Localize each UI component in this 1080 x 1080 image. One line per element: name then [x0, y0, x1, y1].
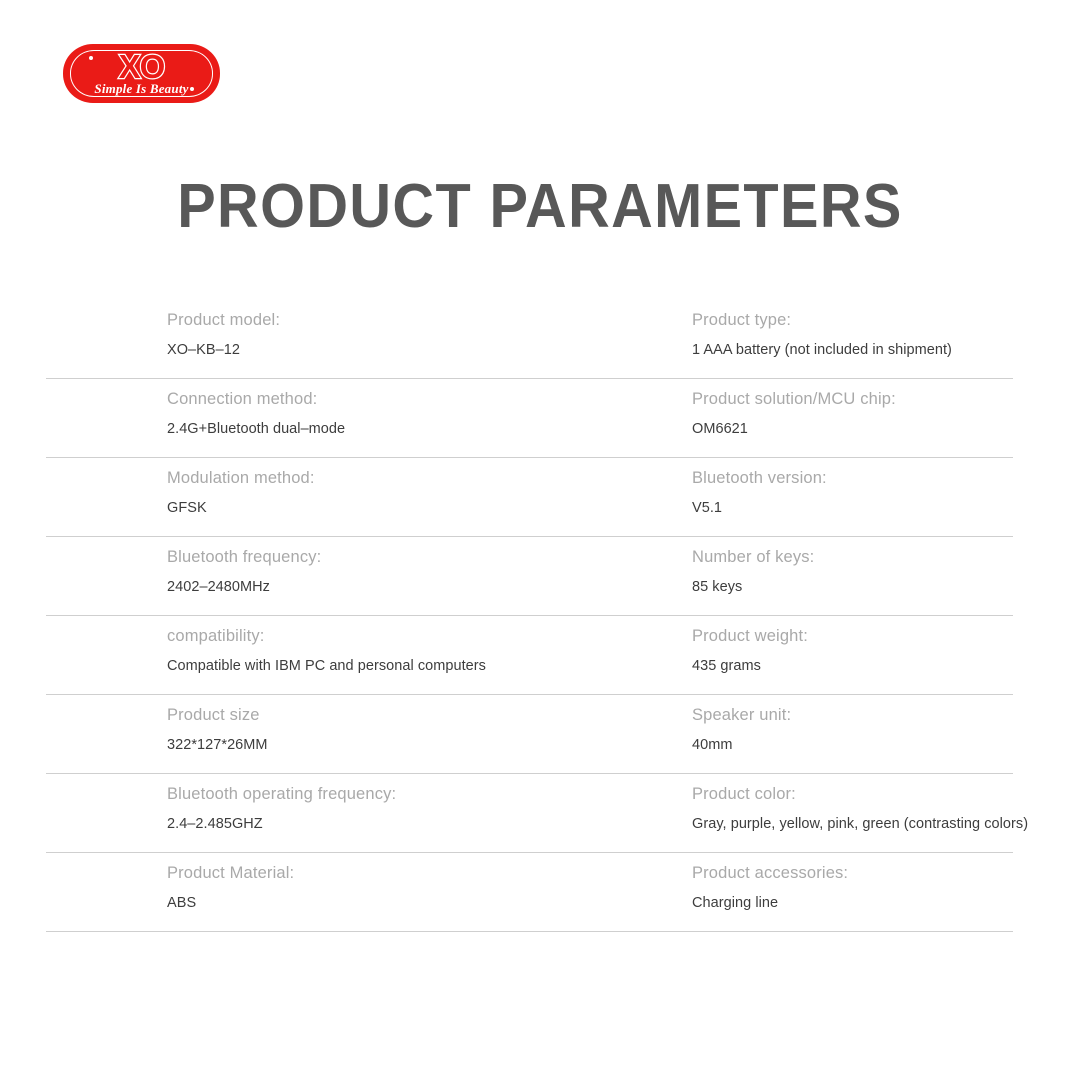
- spec-label: Product type:: [692, 310, 1013, 330]
- spec-cell-left: Bluetooth frequency:2402–2480MHz: [46, 537, 559, 615]
- spec-value: Compatible with IBM PC and personal comp…: [167, 657, 559, 676]
- spec-cell-right: Product color:Gray, purple, yellow, pink…: [559, 774, 1013, 852]
- table-row: Bluetooth frequency:2402–2480MHzNumber o…: [46, 537, 1013, 616]
- spec-cell-right: Number of keys:85 keys: [559, 537, 1013, 615]
- spec-label: Bluetooth operating frequency:: [167, 784, 559, 804]
- spec-value: XO–KB–12: [167, 341, 559, 360]
- spec-value: 2402–2480MHz: [167, 578, 559, 597]
- spec-cell-left: Product size322*127*26MM: [46, 695, 559, 773]
- table-row: Product size322*127*26MMSpeaker unit:40m…: [46, 695, 1013, 774]
- spec-cell-right: Bluetooth version:V5.1: [559, 458, 1013, 536]
- spec-cell-right: Product solution/MCU chip:OM6621: [559, 379, 1013, 457]
- logo-tagline: Simple Is Beauty: [63, 82, 220, 96]
- spec-value: OM6621: [692, 420, 1013, 439]
- spec-value: 1 AAA battery (not included in shipment): [692, 341, 1013, 360]
- spec-cell-right: Product type:1 AAA battery (not included…: [559, 300, 1013, 378]
- spec-label: Bluetooth version:: [692, 468, 1013, 488]
- spec-label: Product accessories:: [692, 863, 1013, 883]
- spec-label: Speaker unit:: [692, 705, 1013, 725]
- spec-cell-left: Bluetooth operating frequency:2.4–2.485G…: [46, 774, 559, 852]
- table-row: Product Material:ABSProduct accessories:…: [46, 853, 1013, 932]
- spec-label: Product size: [167, 705, 559, 725]
- spec-value: V5.1: [692, 499, 1013, 518]
- spec-cell-left: Connection method:2.4G+Bluetooth dual–mo…: [46, 379, 559, 457]
- xo-logo: XO Simple Is Beauty: [63, 44, 220, 103]
- spec-value: GFSK: [167, 499, 559, 518]
- spec-value: 85 keys: [692, 578, 1013, 597]
- table-row: Bluetooth operating frequency:2.4–2.485G…: [46, 774, 1013, 853]
- spec-label: Product model:: [167, 310, 559, 330]
- spec-cell-left: Product Material:ABS: [46, 853, 559, 931]
- spec-label: Connection method:: [167, 389, 559, 409]
- table-row: Product model:XO–KB–12Product type:1 AAA…: [46, 300, 1013, 379]
- spec-cell-left: Product model:XO–KB–12: [46, 300, 559, 378]
- spec-label: Product weight:: [692, 626, 1013, 646]
- page-title: PRODUCT PARAMETERS: [38, 174, 1042, 240]
- spec-cell-right: Product accessories:Charging line: [559, 853, 1013, 931]
- spec-value: 435 grams: [692, 657, 1013, 676]
- spec-label: Number of keys:: [692, 547, 1013, 567]
- spec-label: Product Material:: [167, 863, 559, 883]
- spec-cell-left: compatibility:Compatible with IBM PC and…: [46, 616, 559, 694]
- spec-label: compatibility:: [167, 626, 559, 646]
- logo-wordmark: XO: [63, 50, 220, 84]
- spec-value: 322*127*26MM: [167, 736, 559, 755]
- spec-value: 40mm: [692, 736, 1013, 755]
- spec-cell-right: Speaker unit:40mm: [559, 695, 1013, 773]
- spec-label: Product solution/MCU chip:: [692, 389, 1013, 409]
- spec-value: Charging line: [692, 894, 1013, 913]
- spec-value: ABS: [167, 894, 559, 913]
- table-row: compatibility:Compatible with IBM PC and…: [46, 616, 1013, 695]
- spec-value: 2.4–2.485GHZ: [167, 815, 559, 834]
- product-parameters-page: XO Simple Is Beauty PRODUCT PARAMETERS P…: [0, 0, 1080, 1080]
- table-row: Connection method:2.4G+Bluetooth dual–mo…: [46, 379, 1013, 458]
- spec-cell-right: Product weight:435 grams: [559, 616, 1013, 694]
- spec-value: Gray, purple, yellow, pink, green (contr…: [692, 815, 1013, 834]
- spec-value: 2.4G+Bluetooth dual–mode: [167, 420, 559, 439]
- spec-table: Product model:XO–KB–12Product type:1 AAA…: [46, 300, 1013, 932]
- spec-label: Modulation method:: [167, 468, 559, 488]
- table-row: Modulation method:GFSKBluetooth version:…: [46, 458, 1013, 537]
- spec-label: Bluetooth frequency:: [167, 547, 559, 567]
- spec-label: Product color:: [692, 784, 1013, 804]
- spec-cell-left: Modulation method:GFSK: [46, 458, 559, 536]
